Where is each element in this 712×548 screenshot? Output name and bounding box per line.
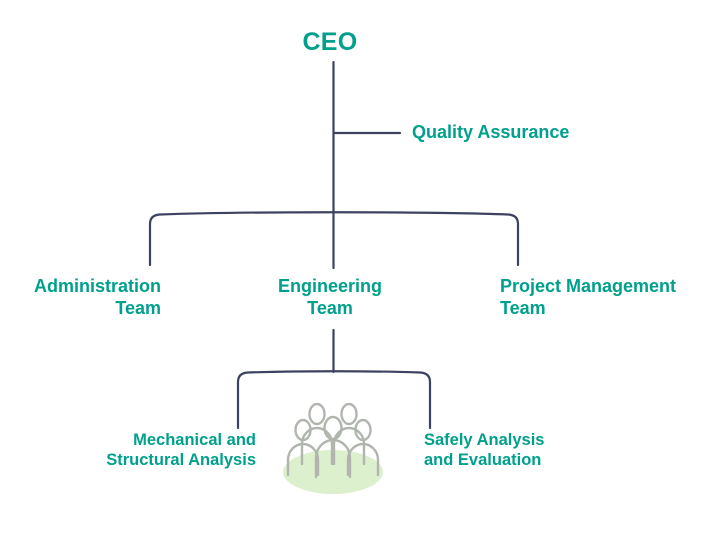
node-label-ceo: CEO [266,27,394,58]
node-label-quality-assurance: Quality Assurance [412,122,642,144]
people-group-icon-glyph [268,392,398,498]
node-label-safely-analysis-and-evaluation: Safely Analysis and Evaluation [424,430,634,470]
node-label-administration-team: Administration Team [0,276,161,320]
people-group-icon [268,392,398,498]
node-label-engineering-team: Engineering Team [256,276,404,320]
node-label-project-management-team: Project Management Team [500,276,712,320]
node-label-mechanical-structural-analysis: Mechanical and Structural Analysis [40,430,256,470]
org-chart-canvas: CEO Quality Assurance Administration Tea… [0,0,712,548]
person-head-front-center [325,417,342,439]
person-head-back-right [342,404,357,424]
person-head-back-left [310,404,325,424]
